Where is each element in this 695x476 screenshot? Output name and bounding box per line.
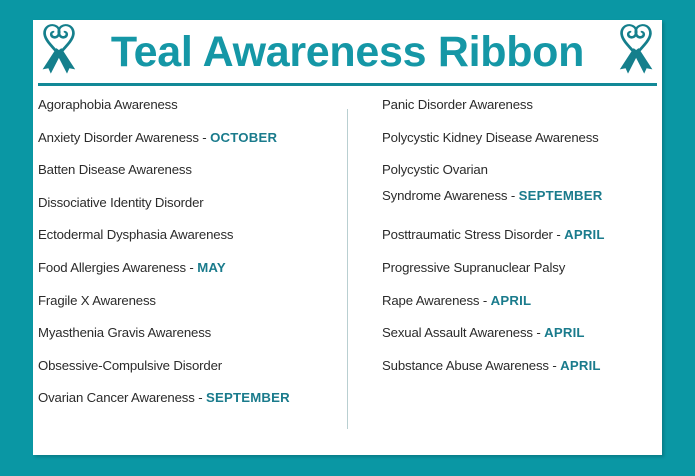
list-item: Substance Abuse Awareness - APRIL xyxy=(380,353,660,386)
separator: - xyxy=(549,358,560,373)
poster-canvas: Teal Awareness Ribbon Agoraphobia Awaren… xyxy=(0,0,695,476)
awareness-month: APRIL xyxy=(491,293,532,308)
list-item: Panic Disorder Awareness xyxy=(380,92,660,125)
separator: - xyxy=(186,260,197,275)
awareness-month: MAY xyxy=(197,260,226,275)
list-item: Posttraumatic Stress Disorder - APRIL xyxy=(380,222,660,255)
awareness-month: APRIL xyxy=(564,227,605,242)
awareness-ribbon-icon xyxy=(614,24,658,86)
separator: - xyxy=(195,390,206,405)
awareness-name: Ectodermal Dysphasia Awareness xyxy=(38,227,233,242)
awareness-name: Agoraphobia Awareness xyxy=(38,97,178,112)
list-item: Ovarian Cancer Awareness - SEPTEMBER xyxy=(36,385,346,418)
awareness-name: Anxiety Disorder Awareness xyxy=(38,130,199,145)
awareness-month: OCTOBER xyxy=(210,130,277,145)
awareness-name-line2: Syndrome Awareness - SEPTEMBER xyxy=(382,183,660,209)
awareness-name: Panic Disorder Awareness xyxy=(382,97,533,112)
awareness-month: APRIL xyxy=(560,358,601,373)
list-item: Obsessive-Compulsive Disorder xyxy=(36,353,346,386)
awareness-month: SEPTEMBER xyxy=(519,188,603,203)
separator: - xyxy=(533,325,544,340)
awareness-name: Progressive Supranuclear Palsy xyxy=(382,260,565,275)
awareness-name: Obsessive-Compulsive Disorder xyxy=(38,358,222,373)
list-item: Batten Disease Awareness xyxy=(36,157,346,190)
column-divider xyxy=(347,109,348,429)
list-item: Fragile X Awareness xyxy=(36,288,346,321)
awareness-name: Polycystic Ovarian xyxy=(382,162,488,177)
list-item: Dissociative Identity Disorder xyxy=(36,190,346,223)
list-item: Polycystic OvarianSyndrome Awareness - S… xyxy=(380,157,660,222)
list-item: Myasthenia Gravis Awareness xyxy=(36,320,346,353)
awareness-name: Substance Abuse Awareness xyxy=(382,358,549,373)
list-item: Polycystic Kidney Disease Awareness xyxy=(380,125,660,158)
list-item: Sexual Assault Awareness - APRIL xyxy=(380,320,660,353)
awareness-month: APRIL xyxy=(544,325,585,340)
separator: - xyxy=(553,227,564,242)
awareness-name: Rape Awareness xyxy=(382,293,479,308)
awareness-list: Agoraphobia AwarenessAnxiety Disorder Aw… xyxy=(33,92,662,452)
list-item: Progressive Supranuclear Palsy xyxy=(380,255,660,288)
poster-card: Teal Awareness Ribbon Agoraphobia Awaren… xyxy=(33,20,662,455)
separator: - xyxy=(199,130,210,145)
list-item: Anxiety Disorder Awareness - OCTOBER xyxy=(36,125,346,158)
list-item: Rape Awareness - APRIL xyxy=(380,288,660,321)
list-item: Ectodermal Dysphasia Awareness xyxy=(36,222,346,255)
separator: - xyxy=(507,188,518,203)
page-title: Teal Awareness Ribbon xyxy=(33,20,662,84)
awareness-name: Ovarian Cancer Awareness xyxy=(38,390,195,405)
awareness-name: Dissociative Identity Disorder xyxy=(38,195,204,210)
list-item: Agoraphobia Awareness xyxy=(36,92,346,125)
awareness-name: Fragile X Awareness xyxy=(38,293,156,308)
poster-header: Teal Awareness Ribbon xyxy=(33,20,662,85)
awareness-name: Posttraumatic Stress Disorder xyxy=(382,227,553,242)
awareness-name: Batten Disease Awareness xyxy=(38,162,192,177)
awareness-name: Sexual Assault Awareness xyxy=(382,325,533,340)
awareness-column-right: Panic Disorder AwarenessPolycystic Kidne… xyxy=(380,92,660,385)
separator: - xyxy=(479,293,490,308)
awareness-name: Food Allergies Awareness xyxy=(38,260,186,275)
header-divider xyxy=(38,83,657,86)
awareness-column-left: Agoraphobia AwarenessAnxiety Disorder Aw… xyxy=(36,92,346,418)
list-item: Food Allergies Awareness - MAY xyxy=(36,255,346,288)
awareness-name: Myasthenia Gravis Awareness xyxy=(38,325,211,340)
awareness-month: SEPTEMBER xyxy=(206,390,290,405)
awareness-name: Polycystic Kidney Disease Awareness xyxy=(382,130,599,145)
